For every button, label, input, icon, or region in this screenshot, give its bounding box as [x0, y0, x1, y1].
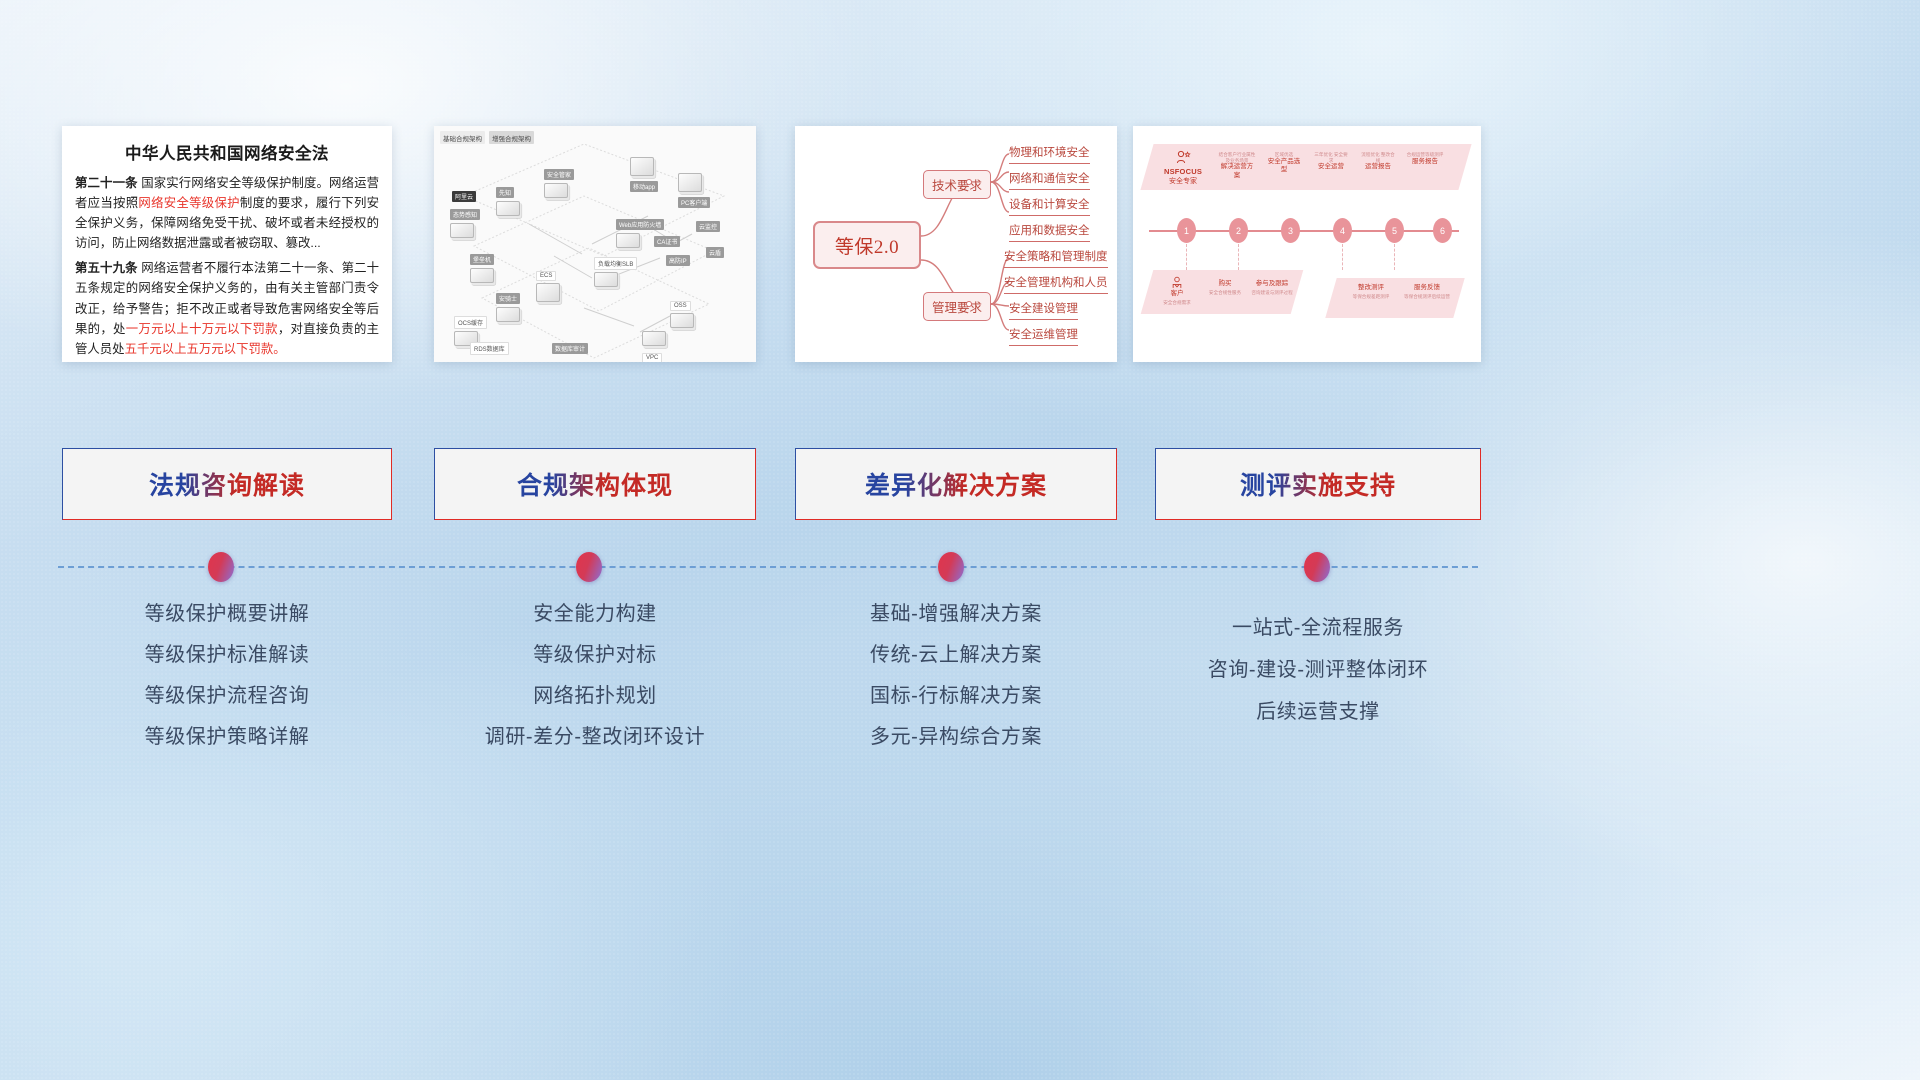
article-59-fine1: 一万元以上十万元以下罚款	[126, 322, 278, 336]
list-item: 等级保护概要讲解	[62, 604, 392, 624]
node-anqishi: 安骑士	[496, 288, 520, 322]
mindmap-leaf-t1: 物理和环境安全	[1009, 144, 1090, 164]
mindmap-root: 等保2.0	[813, 221, 921, 269]
mindmap-connector-dot	[966, 301, 972, 307]
law-article-21: 第二十一条 国家实行网络安全等级保护制度。网络运营者应当按照网络安全等级保护制度…	[75, 173, 379, 253]
timeline-marker-1[interactable]	[208, 552, 234, 582]
list-item: 等级保护流程咨询	[62, 686, 392, 706]
node-bastion-host: 堡垒机	[470, 249, 494, 283]
node-label-1: 先知	[496, 187, 514, 198]
device-box-icon	[678, 173, 702, 192]
node-situation-awareness: 态势感知	[450, 204, 480, 238]
article-21-highlight: 网络安全等级保护	[138, 196, 239, 210]
node-db-audit: 数据库审计	[552, 338, 588, 356]
top-item-0-sub: 结合客户行业属性及业务场景	[1218, 152, 1256, 163]
node-oss: OSS	[670, 294, 694, 328]
node-label-16: 云盾	[706, 247, 724, 258]
process-step-6: 6	[1433, 218, 1452, 243]
list-item: 后续运营支撑	[1155, 702, 1481, 722]
server-box-icon	[670, 313, 694, 328]
customer-person-icon	[1170, 276, 1184, 290]
list-item: 国标-行标解决方案	[795, 686, 1117, 706]
section-title-row: 法规咨询解读 合规架构体现 差异化解决方案 测评实施支持	[0, 448, 1920, 520]
node-label-0: 安全管家	[544, 169, 574, 180]
bottom-item-1-title: 参与及跟踪	[1256, 280, 1289, 287]
top-item-4-title: 服务报告	[1406, 158, 1444, 166]
node-label-6: OCS缓存	[454, 316, 487, 329]
bottom-item-3-sub: 等保合规测评后续运营	[1401, 294, 1453, 300]
customer-label: 客户	[1155, 290, 1199, 298]
mindmap-connector-dot	[966, 179, 972, 185]
section-list-row: 等级保护概要讲解 等级保护标准解读 等级保护流程咨询 等级保护策略详解 安全能力…	[0, 604, 1920, 804]
node-label-5: 安骑士	[496, 293, 520, 304]
top-item-0-title: 解决运营方案	[1218, 163, 1256, 180]
mindmap-leaf-m3: 安全建设管理	[1009, 300, 1078, 320]
node-label-17: OSS	[670, 301, 691, 311]
node-cloud-shield: 云盾	[706, 242, 724, 260]
bottom-item-0: 购买 安全合规性服务	[1203, 280, 1247, 296]
section-title-box-1[interactable]: 法规咨询解读	[62, 448, 392, 520]
section-title-4: 测评实施支持	[1240, 466, 1396, 502]
mindmap-leaf-t2: 网络和通信安全	[1009, 170, 1090, 190]
node-label-7: RDS数据库	[470, 342, 509, 355]
expert-brand: NSFOCUS	[1157, 167, 1209, 177]
node-tiankuang: 阿里云	[452, 186, 476, 204]
process-step-4: 4	[1333, 218, 1352, 243]
node-label-13: 移动app	[630, 181, 658, 192]
node-label-8: 数据库审计	[552, 343, 588, 354]
section-title-3: 差异化解决方案	[865, 466, 1047, 502]
mindmap-leaf-t4: 应用和数据安全	[1009, 222, 1090, 242]
top-item-2-title: 安全运营	[1312, 163, 1350, 171]
mindmap-branch-technical: 技术要求	[923, 170, 991, 199]
node-slb: 负载均衡SLB	[594, 253, 637, 287]
bottom-item-2: 整改测评 等保合规差距测评	[1345, 284, 1397, 300]
law-title: 中华人民共和国网络安全法	[75, 140, 379, 164]
card-law-text[interactable]: 中华人民共和国网络安全法 第二十一条 国家实行网络安全等级保护制度。网络运营者应…	[62, 126, 392, 362]
timeline-marker-4[interactable]	[1304, 552, 1330, 582]
isometric-network-diagram: 基础合规架构 增强合规架构	[434, 126, 756, 362]
node-ecs: ECS	[536, 264, 560, 302]
step-tick-4	[1342, 244, 1343, 270]
customer-badge: 客户 安全合规需求	[1155, 276, 1199, 306]
node-ca-cert: CA证书	[654, 231, 680, 249]
node-label-11: CA证书	[654, 236, 680, 247]
bottom-item-1-sub: 咨询建设与测评过程	[1245, 290, 1299, 296]
list-item: 一站式-全流程服务	[1155, 618, 1481, 638]
bottom-item-2-sub: 等保合规差距测评	[1345, 294, 1397, 300]
node-rds: RDS数据库	[470, 338, 509, 356]
mindmap-leaf-m4: 安全运维管理	[1009, 326, 1078, 346]
server-box-icon	[450, 223, 474, 238]
bottom-item-1: 参与及跟踪 咨询建设与测评过程	[1245, 280, 1299, 296]
server-box-icon	[616, 233, 640, 248]
section-list-4: 一站式-全流程服务 咨询-建设-测评整体闭环 后续运营支撑	[1155, 618, 1481, 744]
expert-person-icon	[1175, 150, 1191, 166]
top-item-0: 结合客户行业属性及业务场景 解决运营方案	[1218, 150, 1256, 180]
node-label-cloud: 阿里云	[452, 191, 476, 202]
section-title-box-2[interactable]: 合规架构体现	[434, 448, 756, 520]
node-label-4: ECS	[536, 271, 556, 281]
server-box-icon	[642, 331, 666, 346]
top-item-2: 三年优化 安全要求 安全运营	[1312, 150, 1350, 172]
bottom-item-2-title: 整改测评	[1358, 284, 1384, 291]
timeline-marker-3[interactable]	[938, 552, 964, 582]
process-graphic: NSFOCUS 安全专家 结合客户行业属性及业务场景 解决运营方案 区域优选 安…	[1133, 126, 1481, 362]
node-pc-client: PC客户端	[678, 172, 710, 210]
timeline-marker-2[interactable]	[576, 552, 602, 582]
article-21-label: 第二十一条	[75, 176, 138, 190]
list-item: 网络拓扑规划	[434, 686, 756, 706]
card-process-timeline[interactable]: NSFOCUS 安全专家 结合客户行业属性及业务场景 解决运营方案 区域优选 安…	[1133, 126, 1481, 362]
mindmap-leaf-t3: 设备和计算安全	[1009, 196, 1090, 216]
server-box-icon	[544, 183, 568, 198]
list-item: 咨询-建设-测评整体闭环	[1155, 660, 1481, 680]
screenshot-card-row: 中华人民共和国网络安全法 第二十一条 国家实行网络安全等级保护制度。网络运营者应…	[0, 126, 1920, 362]
node-label-14: PC客户端	[678, 197, 710, 208]
list-item: 传统-云上解决方案	[795, 645, 1117, 665]
server-box-icon	[496, 201, 520, 216]
list-item: 多元-异构综合方案	[795, 727, 1117, 747]
process-step-5: 5	[1385, 218, 1404, 243]
process-step-1: 1	[1177, 218, 1196, 243]
step-tick-2	[1238, 244, 1239, 270]
node-label-9: 负载均衡SLB	[594, 257, 637, 270]
node-vpc: VPC	[642, 330, 666, 362]
law-document: 中华人民共和国网络安全法 第二十一条 国家实行网络安全等级保护制度。网络运营者应…	[62, 126, 392, 362]
mindmap-branch-management: 管理要求	[923, 292, 991, 321]
law-article-59: 第五十九条 网络运营者不履行本法第二十一条、第二十五条规定的网络安全保护义务的，…	[75, 258, 379, 358]
section-title-box-4[interactable]: 测评实施支持	[1155, 448, 1481, 520]
bottom-item-3: 服务反馈 等保合规测评后续运营	[1401, 284, 1453, 300]
server-box-icon	[496, 307, 520, 322]
process-step-2: 2	[1229, 218, 1248, 243]
mindmap-leaf-m2: 安全管理机构和人员	[1004, 274, 1108, 294]
top-item-2-sub: 三年优化 安全要求	[1312, 152, 1350, 163]
list-item: 等级保护策略详解	[62, 727, 392, 747]
node-label-15: 云监控	[696, 221, 720, 232]
server-box-icon	[536, 283, 560, 302]
section-list-3: 基础-增强解决方案 传统-云上解决方案 国标-行标解决方案 多元-异构综合方案	[795, 604, 1117, 768]
expert-badge: NSFOCUS 安全专家	[1157, 150, 1209, 187]
list-item: 等级保护对标	[434, 645, 756, 665]
section-list-2: 安全能力构建 等级保护对标 网络拓扑规划 调研-差分-整改闭环设计	[434, 604, 756, 768]
node-label-3: 堡垒机	[470, 254, 494, 265]
top-item-3-title: 运营报告	[1359, 163, 1397, 171]
section-title-1: 法规咨询解读	[149, 466, 305, 502]
node-label-18: VPC	[642, 353, 662, 362]
process-step-3: 3	[1281, 218, 1300, 243]
customer-caption: 安全合规需求	[1155, 300, 1199, 306]
node-label-12: 高防IP	[666, 255, 690, 266]
top-item-1: 区域优选 安全产品选型	[1265, 150, 1303, 175]
step-tick-5	[1394, 244, 1395, 270]
top-item-4: 合规运营等级测评 服务报告	[1406, 150, 1444, 166]
list-item: 等级保护标准解读	[62, 645, 392, 665]
list-item: 安全能力构建	[434, 604, 756, 624]
top-band-content: NSFOCUS 安全专家 结合客户行业属性及业务场景 解决运营方案 区域优选 安…	[1157, 150, 1467, 187]
node-anti-ddos: 高防IP	[666, 250, 690, 268]
expert-role: 安全专家	[1169, 178, 1197, 185]
server-box-icon	[594, 272, 618, 287]
list-item: 基础-增强解决方案	[795, 604, 1117, 624]
article-59-label: 第五十九条	[75, 261, 138, 275]
top-item-3: 流程优化 整改合规 运营报告	[1359, 150, 1397, 172]
top-item-3-sub: 流程优化 整改合规	[1359, 152, 1397, 163]
bottom-item-0-sub: 安全合规性服务	[1203, 290, 1247, 296]
node-label-10: Web应用防火墙	[616, 219, 664, 230]
node-label-2: 态势感知	[450, 209, 480, 220]
server-box-icon	[470, 268, 494, 283]
node-cloud-monitor: 云监控	[696, 216, 720, 234]
bottom-item-0-title: 购买	[1219, 280, 1232, 287]
section-title-box-3[interactable]: 差异化解决方案	[795, 448, 1117, 520]
mindmap: 等保2.0 技术要求 物理和环境安全 网络和通信安全 设备和计算安全 应用和数据…	[795, 126, 1117, 362]
timeline	[58, 566, 1478, 568]
node-xianzhi: 先知	[496, 182, 520, 216]
bottom-item-3-title: 服务反馈	[1414, 284, 1440, 291]
node-safe-steward: 安全管家	[544, 164, 574, 198]
mindmap-leaf-m1: 安全策略和管理制度	[1004, 248, 1108, 268]
section-list-1: 等级保护概要讲解 等级保护标准解读 等级保护流程咨询 等级保护策略详解	[62, 604, 392, 768]
top-item-4-sub: 合规运营等级测评	[1406, 152, 1444, 158]
card-mindmap[interactable]: 等保2.0 技术要求 物理和环境安全 网络和通信安全 设备和计算安全 应用和数据…	[795, 126, 1117, 362]
top-item-1-title: 安全产品选型	[1265, 158, 1303, 175]
section-title-2: 合规架构体现	[517, 466, 673, 502]
device-box-icon	[630, 157, 654, 176]
article-59-fine2: 五千元以上五万元以下罚款。	[125, 342, 286, 356]
timeline-dashed-line	[58, 566, 1478, 568]
card-architecture-diagram[interactable]: 基础合规架构 增强合规架构	[434, 126, 756, 362]
node-mobile-app: 移动app	[630, 156, 658, 194]
step-tick-1	[1186, 244, 1187, 270]
list-item: 调研-差分-整改闭环设计	[434, 727, 756, 747]
